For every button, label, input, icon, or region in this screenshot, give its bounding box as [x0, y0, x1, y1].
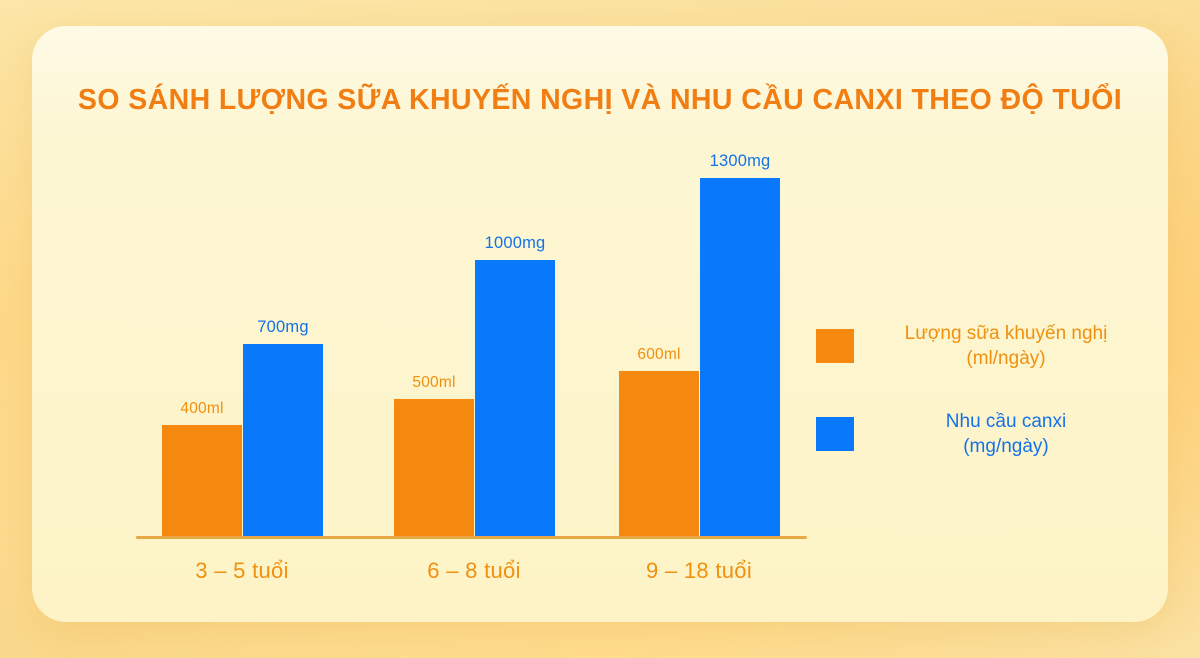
- bar-label-calcium-group-1: 700mg: [257, 318, 308, 337]
- legend-label-calcium-line2: (mg/ngày): [876, 434, 1136, 459]
- legend-label-calcium-line1: Nhu cầu canxi: [946, 411, 1066, 432]
- bar-milk-group-1: [162, 425, 242, 537]
- bar-label-calcium-group-3: 1300mg: [710, 152, 771, 171]
- category-label-group-1: 3 – 5 tuổi: [195, 558, 289, 584]
- chart-plot-area: 400ml 700mg 3 – 5 tuổi 500ml 1000mg 6 – …: [104, 126, 824, 586]
- legend-label-milk-line1: Lượng sữa khuyến nghị: [905, 323, 1108, 344]
- category-label-group-2: 6 – 8 tuổi: [427, 558, 521, 584]
- bar-label-milk-group-3: 600ml: [637, 346, 680, 364]
- category-label-group-3: 9 – 18 tuổi: [646, 558, 752, 584]
- bar-calcium-group-2: [475, 260, 555, 537]
- bar-milk-group-3: [619, 371, 699, 537]
- milk-swatch-icon: [816, 329, 854, 363]
- bar-milk-group-2: [394, 399, 474, 537]
- calcium-swatch-icon: [816, 417, 854, 451]
- legend-label-milk-line2: (ml/ngày): [876, 346, 1136, 371]
- x-axis-line: [136, 536, 807, 539]
- bar-label-milk-group-2: 500ml: [412, 374, 455, 392]
- chart-legend: Lượng sữa khuyến nghị (ml/ngày) Nhu cầu …: [816, 321, 1136, 459]
- bar-calcium-group-3: [700, 178, 780, 537]
- legend-item-milk: Lượng sữa khuyến nghị (ml/ngày): [816, 321, 1136, 371]
- bar-calcium-group-1: [243, 344, 323, 537]
- legend-item-calcium: Nhu cầu canxi (mg/ngày): [816, 409, 1136, 459]
- chart-card: SO SÁNH LƯỢNG SỮA KHUYẾN NGHỊ VÀ NHU CẦU…: [32, 26, 1168, 622]
- bar-label-calcium-group-2: 1000mg: [485, 234, 546, 253]
- legend-label-milk: Lượng sữa khuyến nghị (ml/ngày): [876, 321, 1136, 371]
- page-title: SO SÁNH LƯỢNG SỮA KHUYẾN NGHỊ VÀ NHU CẦU…: [32, 84, 1168, 117]
- legend-label-calcium: Nhu cầu canxi (mg/ngày): [876, 409, 1136, 459]
- bar-label-milk-group-1: 400ml: [180, 400, 223, 418]
